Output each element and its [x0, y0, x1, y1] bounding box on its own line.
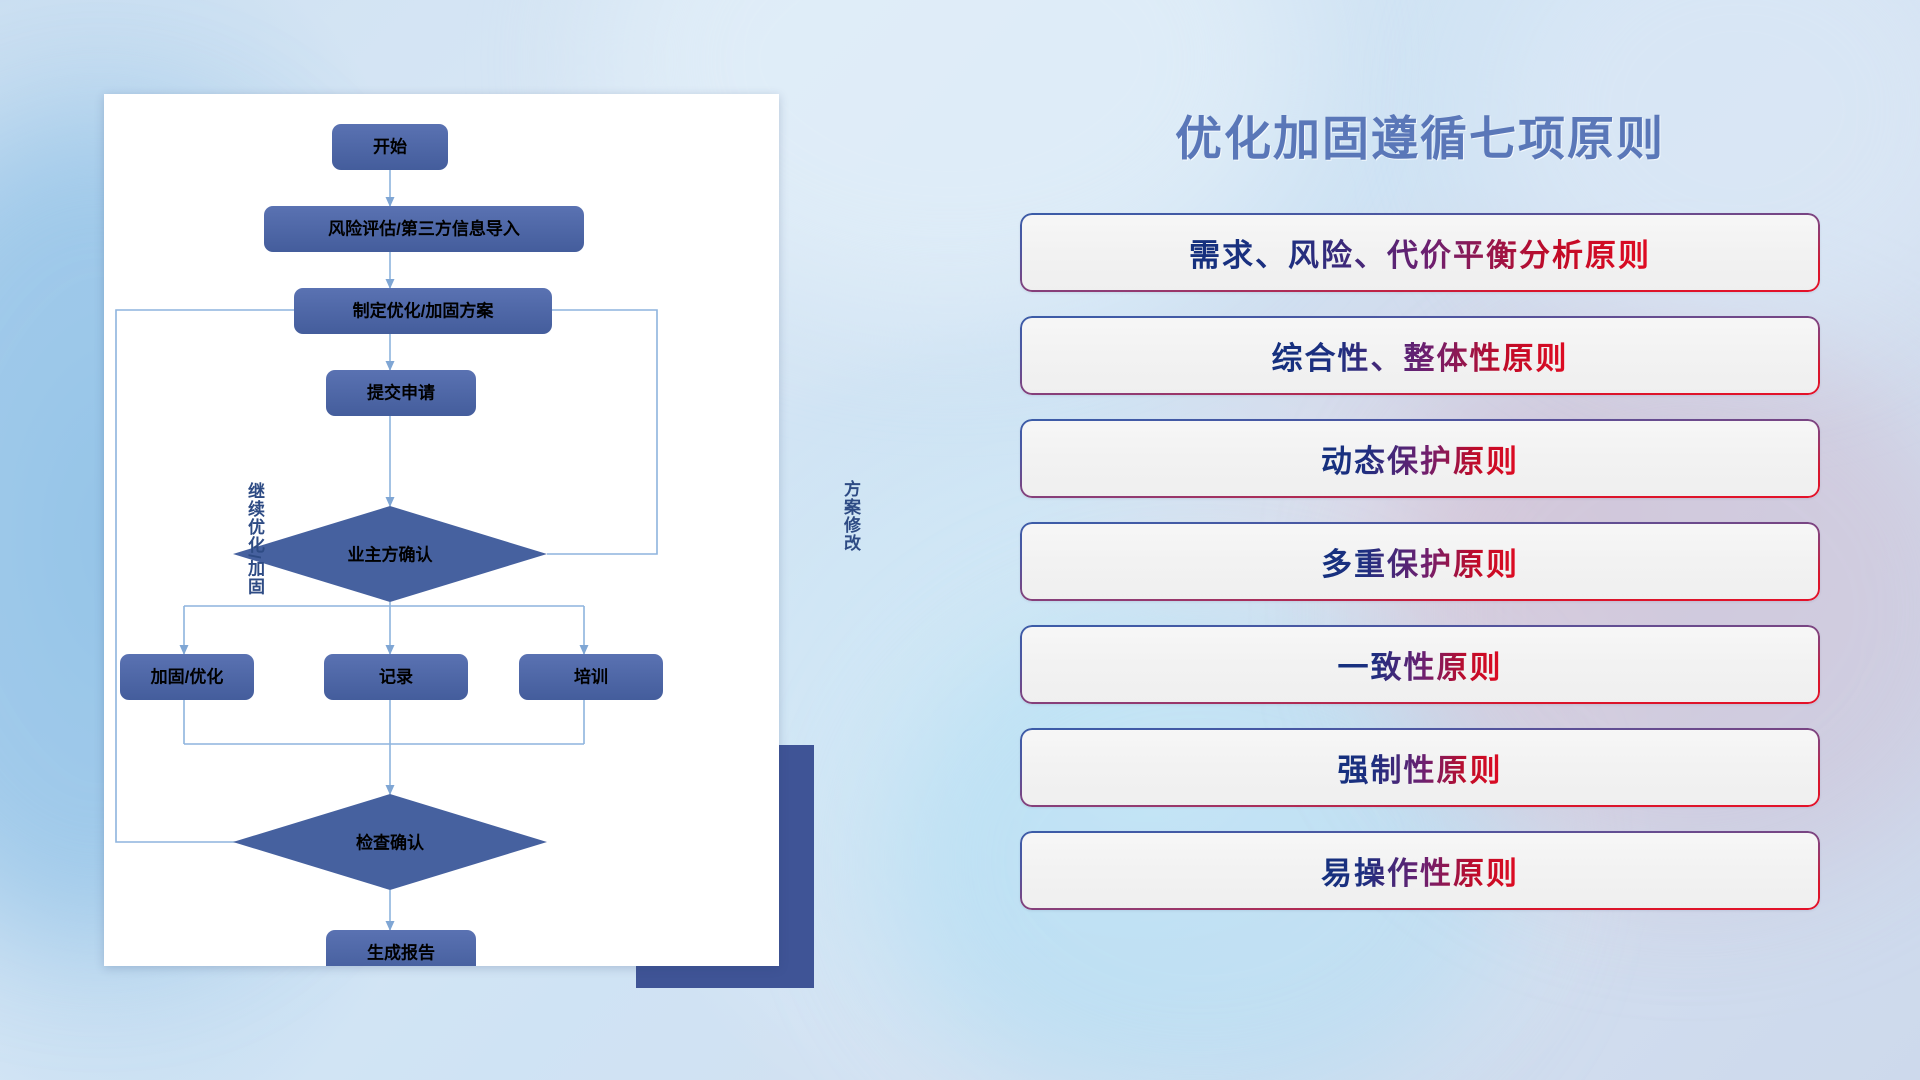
principle-card-3-label: 动态保护原则 — [1321, 436, 1519, 481]
flow-node-plan-label: 制定优化/加固方案 — [353, 300, 495, 320]
principle-card-2-label: 综合性、整体性原则 — [1272, 333, 1569, 378]
flow-node-record-label: 记录 — [379, 667, 413, 686]
flow-node-start-label: 开始 — [373, 136, 407, 156]
principles-panel: 优化加固遵循七项原则 需求、风险、代价平衡分析原则 综合性、整体性原则 动态保护… — [1020, 100, 1820, 1000]
flowchart-card: 开始 风险评估/第三方信息导入 制定优化/加固方案 提交申请 业主方确认 加固/… — [104, 94, 779, 966]
principle-card-6-label: 强制性原则 — [1338, 745, 1503, 790]
flow-node-train-label: 培训 — [574, 666, 608, 686]
principle-card-1-label: 需求、风险、代价平衡分析原则 — [1189, 230, 1651, 275]
flow-node-owner-confirm-label: 业主方确认 — [348, 544, 434, 564]
principle-card-7[interactable]: 易操作性原则 — [1020, 831, 1820, 910]
flow-edge-label-right: 方案修改 — [842, 480, 859, 552]
flow-node-report-label: 生成报告 — [367, 942, 435, 962]
flow-node-risk-label: 风险评估/第三方信息导入 — [328, 218, 520, 238]
principle-card-2[interactable]: 综合性、整体性原则 — [1020, 316, 1820, 395]
principle-card-7-label: 易操作性原则 — [1321, 848, 1519, 893]
flow-node-reinforce-label: 加固/优化 — [150, 666, 224, 686]
principle-card-5-label: 一致性原则 — [1338, 642, 1503, 687]
panel-title: 优化加固遵循七项原则 — [1020, 100, 1820, 169]
slide-canvas: 开始 风险评估/第三方信息导入 制定优化/加固方案 提交申请 业主方确认 加固/… — [0, 0, 1920, 1080]
flow-node-check-label: 检查确认 — [356, 832, 425, 852]
principle-card-3[interactable]: 动态保护原则 — [1020, 419, 1820, 498]
flow-edge-label-left: 继续优化/加固 — [246, 482, 263, 596]
principle-card-1[interactable]: 需求、风险、代价平衡分析原则 — [1020, 213, 1820, 292]
flowchart-diagram: 开始 风险评估/第三方信息导入 制定优化/加固方案 提交申请 业主方确认 加固/… — [104, 94, 779, 966]
principle-card-4[interactable]: 多重保护原则 — [1020, 522, 1820, 601]
flow-node-submit-label: 提交申请 — [367, 382, 435, 402]
principle-card-6[interactable]: 强制性原则 — [1020, 728, 1820, 807]
principle-card-4-label: 多重保护原则 — [1321, 539, 1519, 584]
principle-card-5[interactable]: 一致性原则 — [1020, 625, 1820, 704]
